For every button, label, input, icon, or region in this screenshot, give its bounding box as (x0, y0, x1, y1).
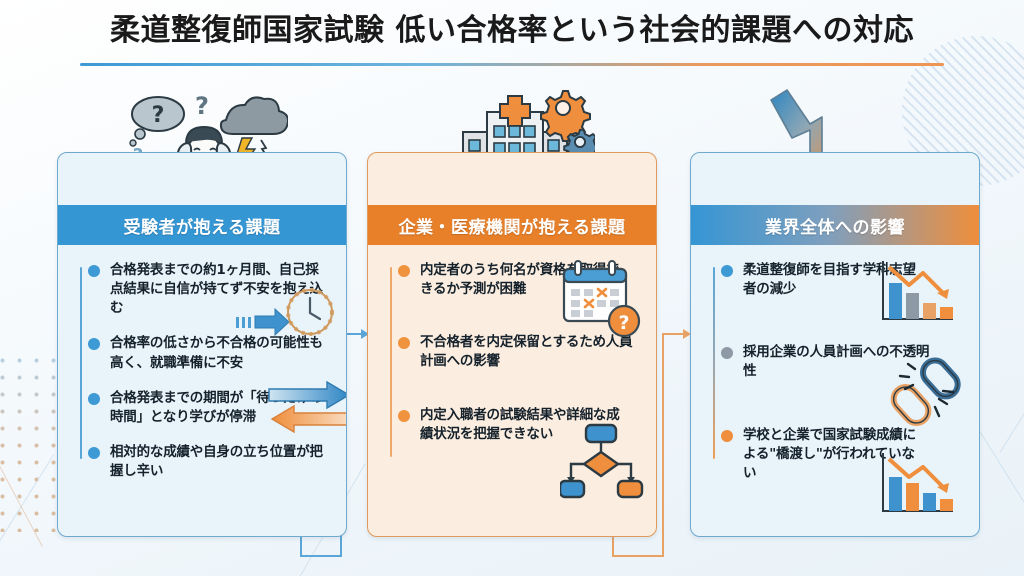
connector-2-3-segment (662, 333, 684, 335)
card-body-examinees: 合格発表までの約1ヶ月間、自己採点結果に自信が持てず不安を抱え込む 合格率の低さ… (58, 245, 346, 537)
bullet-dot (398, 410, 410, 422)
svg-text:?: ? (618, 312, 629, 334)
card-header-industry: 業界全体への影響 (691, 205, 979, 245)
card-body-employers: 内定者のうち何名が資格を取得できるか予測が困難 不合格者を内定保留とするため人員… (368, 245, 656, 537)
bullet-dot (88, 265, 100, 277)
page-title: 柔道整復師国家試験 低い合格率という社会的課題への対応 (0, 14, 1024, 49)
connector-2-3-segment (612, 555, 664, 557)
card-header-examinees: 受験者が抱える課題 (58, 205, 346, 245)
diagonal-line-decoration (1000, 342, 1024, 453)
connector-2-3-segment (612, 537, 614, 557)
card-employers: 企業・医療機関が抱える課題 内定者のうち何名が資格を取得できるか予測が困難 不合… (367, 152, 657, 537)
svg-text:?: ? (195, 92, 209, 120)
bullet-dot (88, 393, 100, 405)
declining-bar-chart-icon (877, 259, 957, 330)
declining-bar-chart-icon (877, 451, 957, 522)
bullet-dot (398, 337, 410, 349)
arrow-to-clock-icon (234, 285, 334, 352)
title-underline (80, 63, 944, 66)
connector-1-2-segment (300, 537, 302, 557)
bullet-text: 相対的な成績や自身の立ち位置が把握し辛い (110, 443, 334, 481)
bullet-dot (88, 338, 100, 350)
card-header-employers: 企業・医療機関が抱える課題 (368, 205, 656, 245)
list-item: 相対的な成績や自身の立ち位置が把握し辛い (72, 443, 334, 481)
card-body-industry: 柔道整復師を目指す学科志望者の減少 採用企業の人員計画への不透明性 学校と企業で… (691, 245, 979, 537)
connector-1-2-segment (300, 555, 342, 557)
bullet-dot (398, 265, 410, 277)
calendar-question-icon: ? (558, 259, 642, 344)
connector-2-3-segment (662, 333, 664, 557)
slide-canvas: 柔道整復師国家試験 低い合格率という社会的課題への対応 ? ? ? ? (0, 0, 1024, 576)
broken-chain-icon (887, 355, 967, 432)
two-way-arrows-icon (263, 381, 347, 442)
bullet-dot (721, 265, 733, 277)
card-industry: 業界全体への影響 柔道整復師を目指す学科志望者の減少 採用企業の人員計画への不透… (690, 152, 980, 537)
bullet-dot (721, 430, 733, 442)
bullet-dot (88, 447, 100, 459)
flowchart-icon (560, 423, 644, 504)
svg-text:?: ? (152, 103, 165, 128)
slide-title-area: 柔道整復師国家試験 低い合格率という社会的課題への対応 (0, 14, 1024, 49)
bullet-dot (721, 347, 733, 359)
card-examinees: 受験者が抱える課題 合格発表までの約1ヶ月間、自己採点結果に自信が持てず不安を抱… (57, 152, 347, 537)
